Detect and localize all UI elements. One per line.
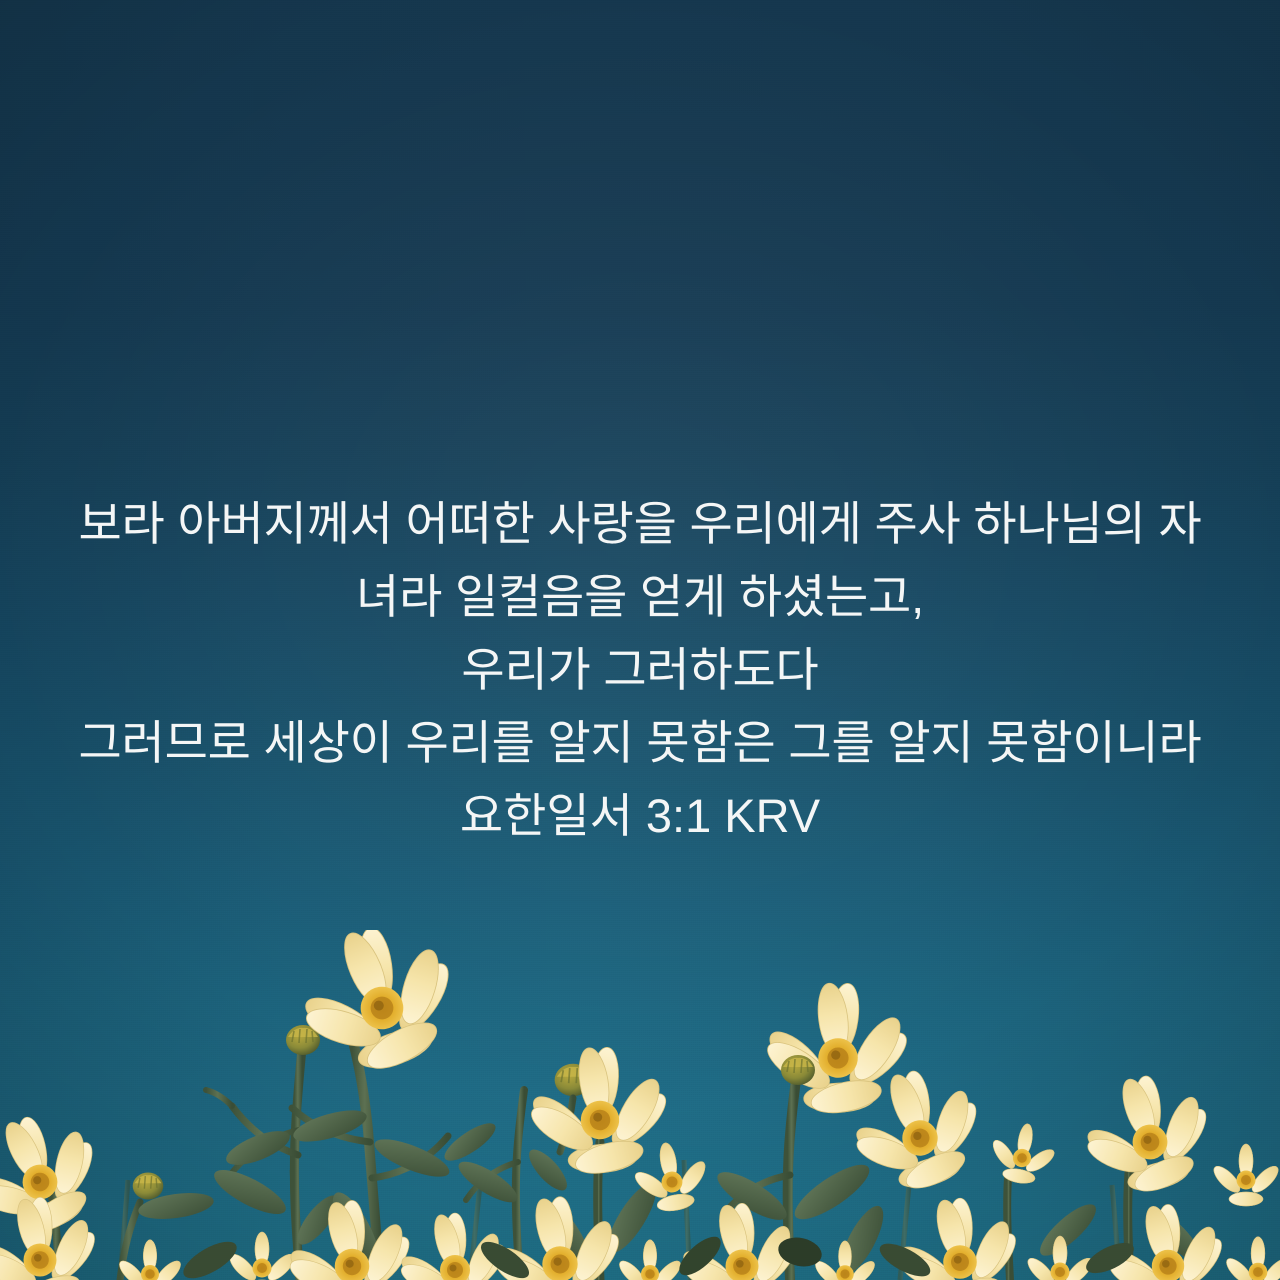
verse-text-block: 보라 아버지께서 어떠한 사랑을 우리에게 주사 하나님의 자 녀라 일컬음을 … bbox=[0, 487, 1280, 852]
verse-line-2: 녀라 일컬음을 얻게 하셨는고, bbox=[0, 560, 1280, 633]
flower-cluster-left bbox=[206, 1025, 345, 1280]
quote-card: 보라 아버지께서 어떠한 사랑을 우리에게 주사 하나님의 자 녀라 일컬음을 … bbox=[0, 0, 1280, 1280]
verse-line-4: 그러므로 세상이 우리를 알지 못함은 그를 알지 못함이니라 bbox=[0, 706, 1280, 779]
verse-reference: 요한일서 3:1 KRV bbox=[0, 779, 1280, 852]
verse-line-1: 보라 아버지께서 어떠한 사랑을 우리에게 주사 하나님의 자 bbox=[0, 487, 1280, 560]
verse-line-3: 우리가 그러하도다 bbox=[0, 633, 1280, 706]
flower-field bbox=[0, 930, 1280, 1280]
